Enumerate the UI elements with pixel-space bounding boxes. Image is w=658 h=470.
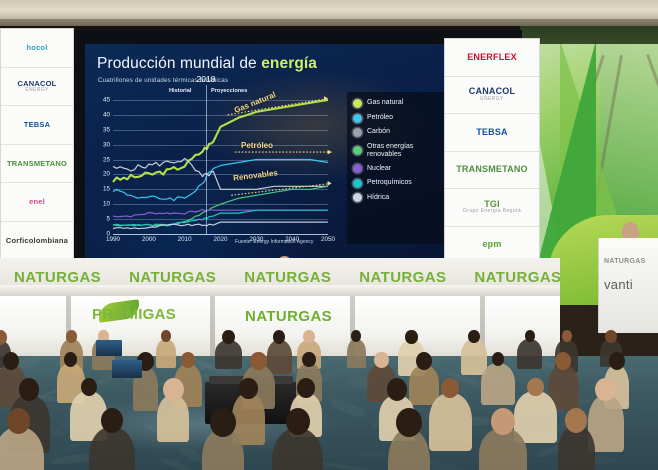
audience-head xyxy=(81,378,97,396)
podium-logo-naturgas: NATURGAS xyxy=(604,258,646,265)
slide-title: Producción mundial de energía xyxy=(97,55,317,73)
projection-arrowhead-3 xyxy=(328,181,332,186)
sponsor-tagline: ENERGY xyxy=(469,97,515,102)
legend-item: Petróleo xyxy=(353,114,441,123)
y-tick-label: 10 xyxy=(93,201,110,208)
sponsor-name: TRANSMETANO xyxy=(7,160,67,168)
legend-label: Otras energías renovables xyxy=(367,143,441,159)
legend-color-dot-icon xyxy=(353,128,362,137)
sponsor-logo: TEBSA xyxy=(1,106,73,145)
sponsor-name: ENERFLEX xyxy=(467,53,517,62)
legend-item: Otras energías renovables xyxy=(353,143,441,159)
sponsor-logo: TGIGrupo Energía Bogotá xyxy=(445,189,539,227)
y-tick-label: 25 xyxy=(93,156,110,163)
chart-source-note: Fuente: Energy Information Agency xyxy=(235,239,313,245)
audience-member xyxy=(267,340,292,374)
legend-item: Nuclear xyxy=(353,164,441,173)
x-tick-label: 2010 xyxy=(178,236,192,243)
audience-head xyxy=(210,408,236,437)
sponsor-name: TEBSA xyxy=(24,121,50,129)
audience-head xyxy=(273,330,285,344)
ceiling-beam xyxy=(0,0,658,26)
audience-head xyxy=(405,330,417,344)
sponsor-name: enel xyxy=(29,198,45,206)
legend-label: Nuclear xyxy=(367,165,391,173)
audience-head xyxy=(303,330,315,343)
audience-head xyxy=(7,408,30,434)
y-tick-label: 5 xyxy=(93,215,110,222)
stage-logo-naturgas: NATURGAS xyxy=(245,308,332,325)
audience-head xyxy=(609,352,625,370)
chart-label-projection: Proyecciones xyxy=(211,88,247,94)
sponsor-name: epm xyxy=(482,240,501,249)
audience-head xyxy=(562,330,572,342)
audience-head xyxy=(250,352,266,370)
legend-color-dot-icon xyxy=(353,164,362,173)
sponsor-logo: CANACOLENERGY xyxy=(445,77,539,115)
y-tick-label: 20 xyxy=(93,171,110,178)
sponsor-logo: enel xyxy=(1,183,73,222)
audience-head xyxy=(374,352,388,368)
audience-head xyxy=(468,330,479,343)
chart-projection-arrows xyxy=(113,94,328,235)
audience-head xyxy=(239,378,257,399)
chart-annotation-oil: Petróleo xyxy=(241,141,273,150)
audience-member xyxy=(517,339,542,370)
audience-member xyxy=(215,340,242,368)
sponsor-name: TRANSMETANO xyxy=(456,165,528,174)
audience-head xyxy=(66,330,78,343)
legend-item: Carbón xyxy=(353,128,441,137)
chart-divider-2018 xyxy=(206,85,207,235)
legend-color-dot-icon xyxy=(353,193,362,202)
legend-item: Petroquímicos xyxy=(353,179,441,188)
x-tick-label: 2020 xyxy=(213,236,227,243)
slide-title-prefix: Producción mundial de xyxy=(97,55,261,72)
projection-arrowhead-1 xyxy=(324,96,328,101)
audience-head xyxy=(525,330,536,342)
y-tick-label: 30 xyxy=(93,141,110,148)
audience-head xyxy=(163,378,184,401)
audience-head xyxy=(396,408,422,437)
stage-logo-promigas-pro: PROMIGAS xyxy=(92,306,176,323)
legend-label: Petroquímicos xyxy=(367,179,412,187)
sponsor-logo: Corficolombiana xyxy=(1,222,73,261)
audience-head xyxy=(297,378,315,398)
sponsor-logo: hocol xyxy=(1,29,73,68)
banner-wordmark: NATURGAS xyxy=(474,269,560,286)
legend-item: Hídrica xyxy=(353,193,441,202)
audience-head xyxy=(222,330,235,344)
sponsor-tagline: ENERGY xyxy=(18,88,57,93)
slide-title-accent: energía xyxy=(261,55,317,72)
audience-head xyxy=(302,352,316,367)
conference-photo: Producción mundial de energía Cuatrillon… xyxy=(0,0,658,470)
legend-item: Gas natural xyxy=(353,99,441,108)
y-tick-label: 15 xyxy=(93,186,110,193)
legend-color-dot-icon xyxy=(353,114,362,123)
audience-head xyxy=(605,330,617,343)
sponsor-logo: TRANSMETANO xyxy=(1,145,73,184)
legend-color-dot-icon xyxy=(353,99,362,108)
sponsor-panel-left: hocolCANACOLENERGYTEBSATRANSMETANOenelCo… xyxy=(0,28,74,260)
legend-label: Carbón xyxy=(367,128,390,136)
legend-label: Petróleo xyxy=(367,114,393,122)
laptop-screen xyxy=(96,340,122,356)
sponsor-tagline: Grupo Energía Bogotá xyxy=(463,209,521,214)
audience-head xyxy=(565,408,587,433)
audience-member xyxy=(156,339,176,368)
sponsor-panel-right: ENERFLEXCANACOLENERGYTEBSATRANSMETANOTGI… xyxy=(444,38,540,263)
sponsor-name: Corficolombiana xyxy=(6,237,68,245)
audience-member xyxy=(157,395,189,442)
audience-member xyxy=(461,339,487,375)
x-tick-label: 2050 xyxy=(321,236,335,243)
y-tick-label: 45 xyxy=(93,96,110,103)
audience-member xyxy=(429,393,472,451)
legend-color-dot-icon xyxy=(353,179,362,188)
banner-wordmark: NATURGAS xyxy=(14,269,101,286)
laptop-screen xyxy=(112,360,142,378)
banner-wordmark: NATURGAS xyxy=(359,269,446,286)
legend-label: Hídrica xyxy=(367,194,389,202)
x-tick-label: 2000 xyxy=(142,236,156,243)
sponsor-logo: ENERFLEX xyxy=(445,39,539,77)
audience-head xyxy=(416,352,432,370)
legend-label: Gas natural xyxy=(367,99,403,107)
chart-plot-area: 051015202530354045 199020002010202020302… xyxy=(113,94,328,234)
banner-wordmark: NATURGAS xyxy=(129,269,216,286)
audience-member xyxy=(347,339,366,368)
chart-divider-year-label: 2018 xyxy=(197,74,216,84)
sponsor-name: TEBSA xyxy=(476,128,508,137)
audience-head xyxy=(595,378,616,401)
y-tick-label: 35 xyxy=(93,126,110,133)
presentation-slide: Producción mundial de energía Cuatrillon… xyxy=(85,44,455,259)
projection-arrowhead-2 xyxy=(328,150,332,155)
podium-logo-vanti: vanti xyxy=(604,277,633,292)
legend-color-dot-icon xyxy=(353,146,362,155)
sponsor-logo: CANACOLENERGY xyxy=(1,68,73,107)
banner-wordmark: NATURGAS xyxy=(244,269,331,286)
sponsor-logo: TEBSA xyxy=(445,114,539,152)
chart-legend: Gas naturalPetróleoCarbónOtras energías … xyxy=(347,92,447,244)
sponsor-name: hocol xyxy=(27,44,48,52)
audience-member xyxy=(481,363,516,405)
y-tick-label: 40 xyxy=(93,111,110,118)
audience-head xyxy=(527,378,543,396)
chart-label-history: Historial xyxy=(169,88,191,94)
x-tick-label: 1990 xyxy=(106,236,120,243)
stage-logo-promigas: PROMIGAS xyxy=(92,306,176,323)
sponsor-logo: TRANSMETANO xyxy=(445,152,539,190)
projection-arrow-3 xyxy=(231,183,331,195)
